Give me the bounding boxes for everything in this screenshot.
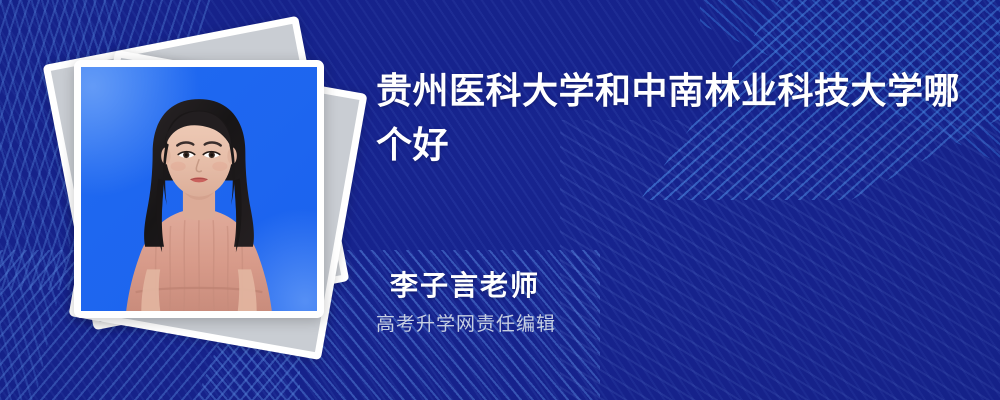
avatar-card-stack: [44, 32, 364, 362]
avatar: [74, 60, 324, 318]
banner-text-block: 贵州医科大学和中南林业科技大学哪个好: [376, 64, 966, 172]
article-header-banner: 贵州医科大学和中南林业科技大学哪个好 李子言老师 高考升学网责任编辑: [0, 0, 1000, 400]
page-title: 贵州医科大学和中南林业科技大学哪个好: [376, 64, 966, 172]
author-role: 高考升学网责任编辑: [376, 313, 950, 338]
author-info: 李子言老师 高考升学网责任编辑: [390, 268, 950, 338]
portrait-photo-image: [81, 67, 317, 311]
author-name: 李子言老师: [390, 268, 950, 303]
